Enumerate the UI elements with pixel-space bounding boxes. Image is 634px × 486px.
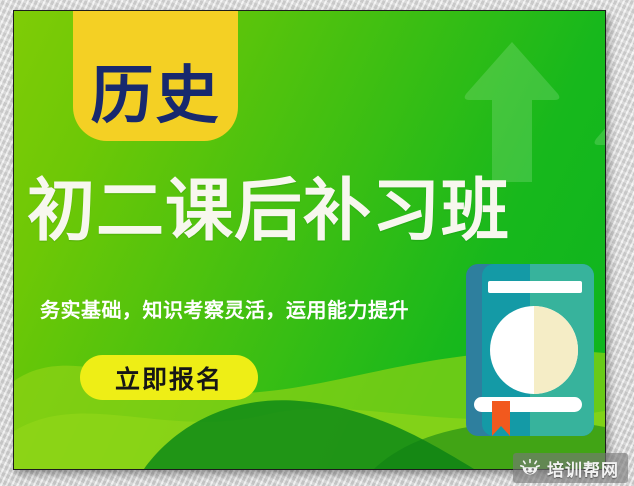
site-watermark: 培训帮网 <box>513 453 628 483</box>
enroll-now-label: 立即报名 <box>115 360 223 396</box>
sun-smiley-icon <box>520 459 540 477</box>
page-backdrop: 历史 初二课后补习班 务实基础，知识考察灵活，运用能力提升 立即报名 <box>0 0 634 486</box>
book-icon <box>466 264 594 436</box>
up-arrow-icon-large <box>462 42 562 182</box>
watermark-label: 培训帮网 <box>547 456 619 481</box>
enroll-now-button[interactable]: 立即报名 <box>80 355 258 400</box>
subtitle: 务实基础，知识考察灵活，运用能力提升 <box>40 294 409 323</box>
subject-badge: 历史 <box>73 10 238 141</box>
headline: 初二课后补习班 <box>27 178 597 246</box>
subject-badge-label: 历史 <box>91 64 221 127</box>
course-promo-banner: 历史 初二课后补习班 务实基础，知识考察灵活，运用能力提升 立即报名 <box>13 10 606 470</box>
